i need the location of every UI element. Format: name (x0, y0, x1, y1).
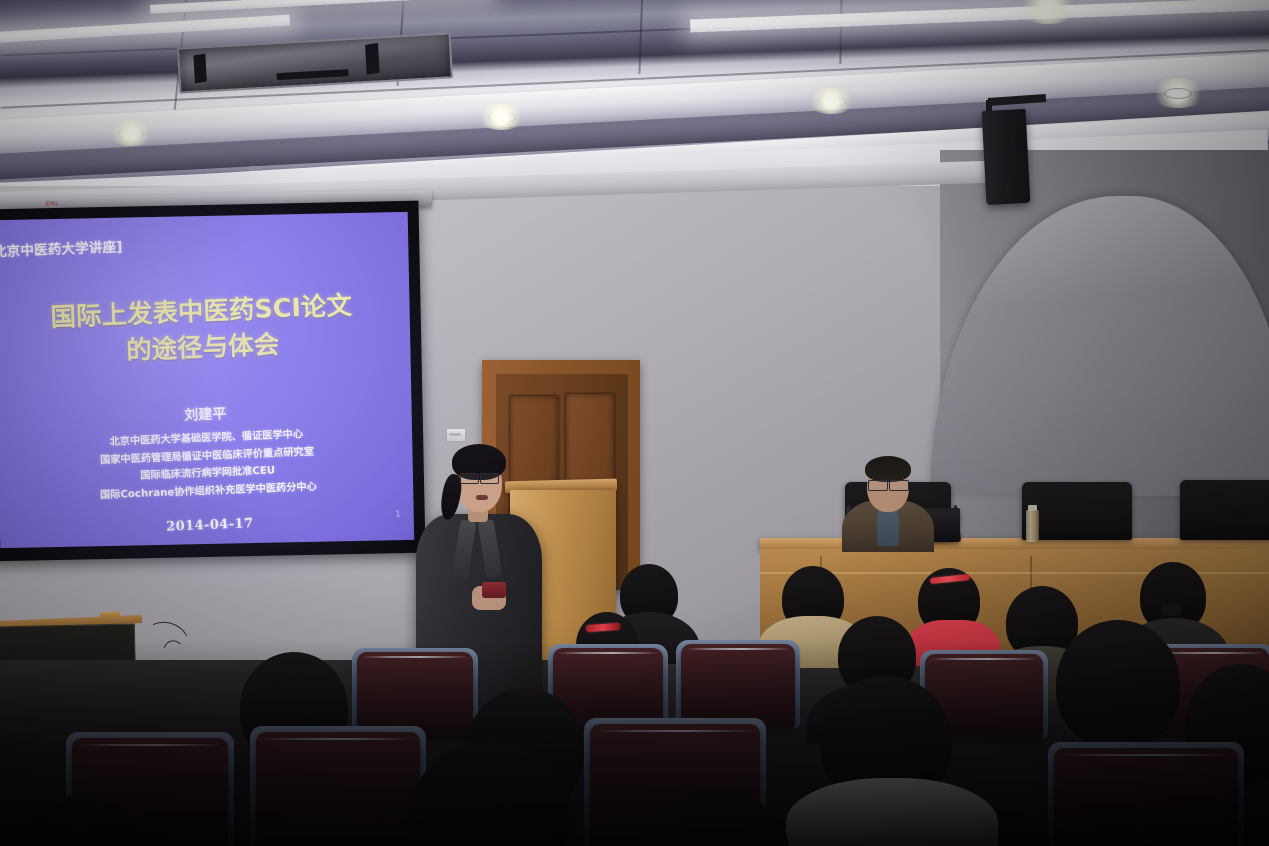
presenter-glasses-right (480, 473, 499, 484)
chairperson-shirt (877, 506, 899, 546)
side-table-remote[interactable] (100, 611, 120, 618)
slide-date: 2014-04-17 (3, 510, 415, 542)
presenter-mouth (476, 495, 488, 500)
screen-case-label: ENL (46, 201, 59, 207)
seat-highlight-b2 (686, 648, 790, 650)
seat-f4[interactable] (1054, 748, 1238, 846)
downlight-4 (1018, 0, 1078, 24)
wall-switch-rockers[interactable] (449, 433, 461, 436)
chairperson-glasses-right (889, 480, 909, 491)
seat-highlight-f2 (262, 738, 414, 740)
slide-page-number: 1 (395, 509, 400, 518)
projection-screen: [北京中医药大学讲座] 国际上发表中医药SCI论文 的途径与体会 刘建平 北京中… (0, 201, 425, 562)
fluorescent-strip-upper (150, 0, 490, 14)
downlight-ring-5 (1164, 88, 1192, 99)
ceiling-air-vent (177, 32, 453, 93)
seat-highlight-f4 (1060, 754, 1232, 756)
downlight-2 (476, 104, 526, 130)
seat-f2[interactable] (256, 732, 420, 846)
wall-speaker (982, 109, 1031, 205)
seat-b2[interactable] (681, 644, 795, 728)
chairperson-hair (865, 456, 911, 482)
slide-title: 国际上发表中医药SCI论文 的途径与体会 (0, 286, 410, 375)
seat-highlight-b5 (362, 656, 468, 658)
chairperson-glasses (868, 480, 888, 491)
lecture-hall-photo: ENL [北京中医药大学讲座] 国际上发表中医药SCI论文 的途径与体会 刘建平… (0, 0, 1269, 846)
seat-highlight-f1 (78, 744, 222, 746)
fluorescent-strip-right (690, 0, 1269, 33)
water-bottle[interactable] (1026, 510, 1039, 542)
slide-affiliations: 北京中医药大学基础医学院、循证医学中心 国家中医药管理局循证中医临床评价重点研究… (0, 422, 414, 509)
downlight-3 (806, 88, 856, 114)
seat-highlight-b3 (930, 658, 1038, 660)
fluorescent-strip-left (0, 15, 290, 45)
seat-highlight-b1 (558, 652, 658, 654)
seat-highlight-f3 (596, 730, 754, 732)
seat-b5[interactable] (357, 652, 473, 736)
slide-header-text: [北京中医药大学讲座] (0, 235, 123, 260)
downlight-1 (108, 120, 154, 146)
presenter-glasses-left (460, 473, 479, 484)
ceiling-smoke-detector (248, 166, 262, 171)
chair-executive-far-right[interactable] (1180, 480, 1269, 540)
slide-surface: [北京中医药大学讲座] 国际上发表中医药SCI论文 的途径与体会 刘建平 北京中… (0, 212, 414, 548)
audience-head-f4 (1056, 620, 1180, 748)
presenter-clicker[interactable] (482, 582, 506, 598)
audience-hairtie-r2 (1160, 604, 1182, 616)
